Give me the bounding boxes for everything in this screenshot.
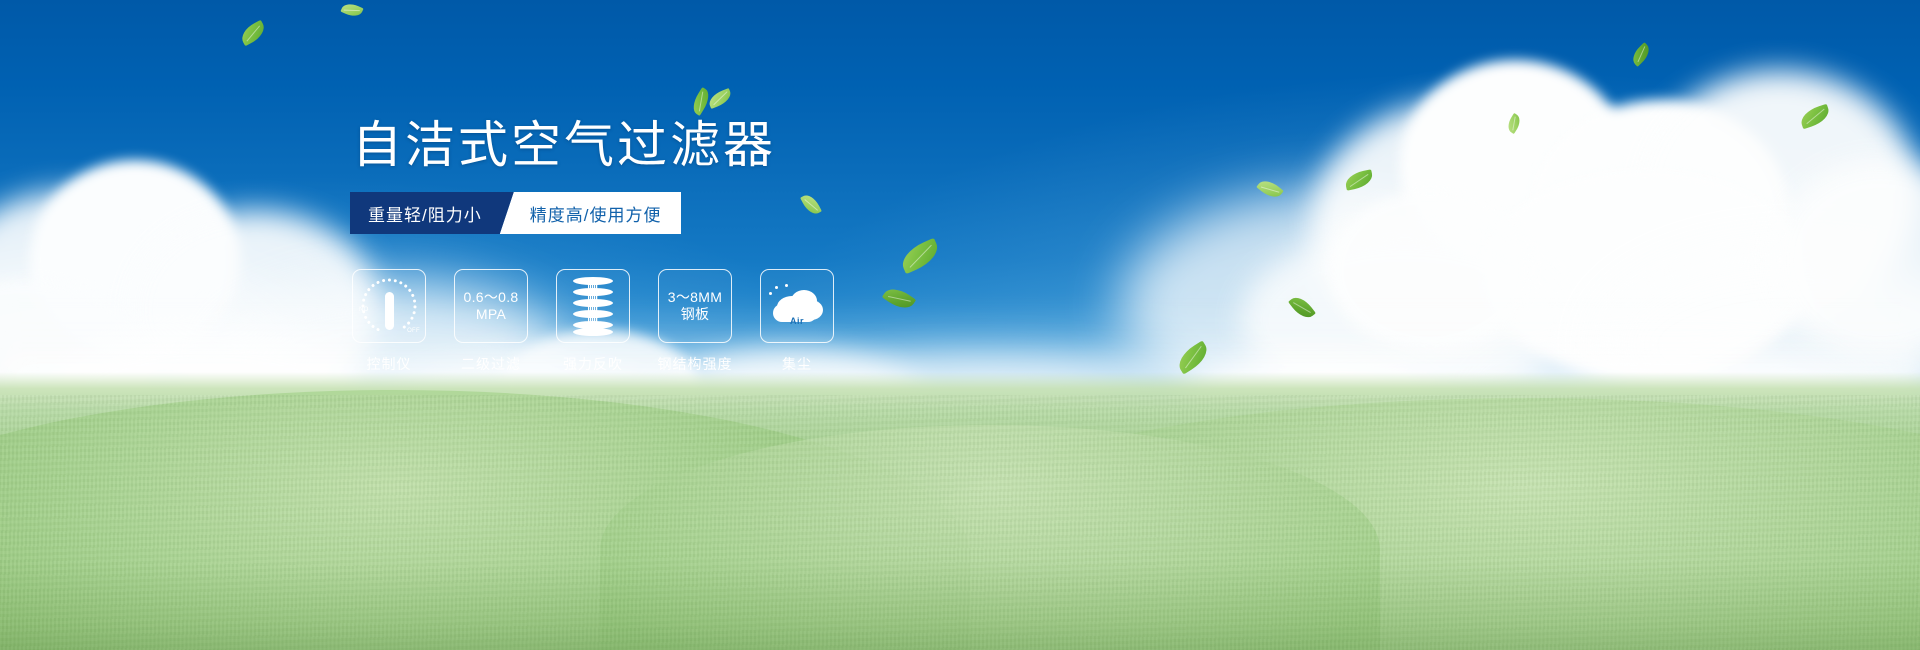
feature-item-dust: Air 集尘 [760,269,834,374]
feature-item-controller: NO OFF 控制仪 [352,269,426,374]
feature-value-line1: 0.6～0.8 [463,289,518,306]
hero-banner: 自洁式空气过滤器 重量轻/阻力小 精度高/使用方便 [0,0,1920,650]
gauge-label-min: NO [359,307,369,313]
feature-value-text: 3～8MM 钢板 [668,289,722,323]
filter-stack-icon [573,277,613,335]
tagline-badges: 重量轻/阻力小 精度高/使用方便 [350,192,681,234]
gauge-needle [385,292,394,330]
dust-cloud-icon: Air [769,284,825,328]
tagline-badge-secondary: 精度高/使用方便 [500,192,682,234]
gauge-icon: NO OFF [360,278,418,334]
feature-list: NO OFF 控制仪 0.6～0.8 MPA 二级过滤 [352,269,834,374]
feature-value-line1: 3～8MM [668,289,722,306]
tagline-badge-primary: 重量轻/阻力小 [350,192,514,234]
gauge-label-max: OFF [407,328,420,334]
feature-value-line2: 钢板 [668,306,722,323]
feature-item-pressure: 0.6～0.8 MPA 二级过滤 [454,269,528,374]
feature-icon-box: 3～8MM 钢板 [658,269,732,343]
feature-icon-box: 0.6～0.8 MPA [454,269,528,343]
feature-label: 二级过滤 [461,354,521,374]
feature-icon-box [556,269,630,343]
feature-label: 集尘 [782,354,812,374]
dust-cloud-label: Air [790,316,804,326]
feature-icon-box: Air [760,269,834,343]
feature-label: 强力反吹 [563,354,623,374]
banner-content: 自洁式空气过滤器 重量轻/阻力小 精度高/使用方便 [0,0,1920,650]
feature-item-steel: 3～8MM 钢板 钢结构强度 [658,269,732,374]
feature-label: 钢结构强度 [658,354,733,374]
feature-label: 控制仪 [367,354,412,374]
page-title: 自洁式空气过滤器 [352,114,776,176]
feature-value-text: 0.6～0.8 MPA [463,289,518,323]
feature-icon-box: NO OFF [352,269,426,343]
feature-value-line2: MPA [463,306,518,323]
feature-item-backblow: 强力反吹 [556,269,630,374]
